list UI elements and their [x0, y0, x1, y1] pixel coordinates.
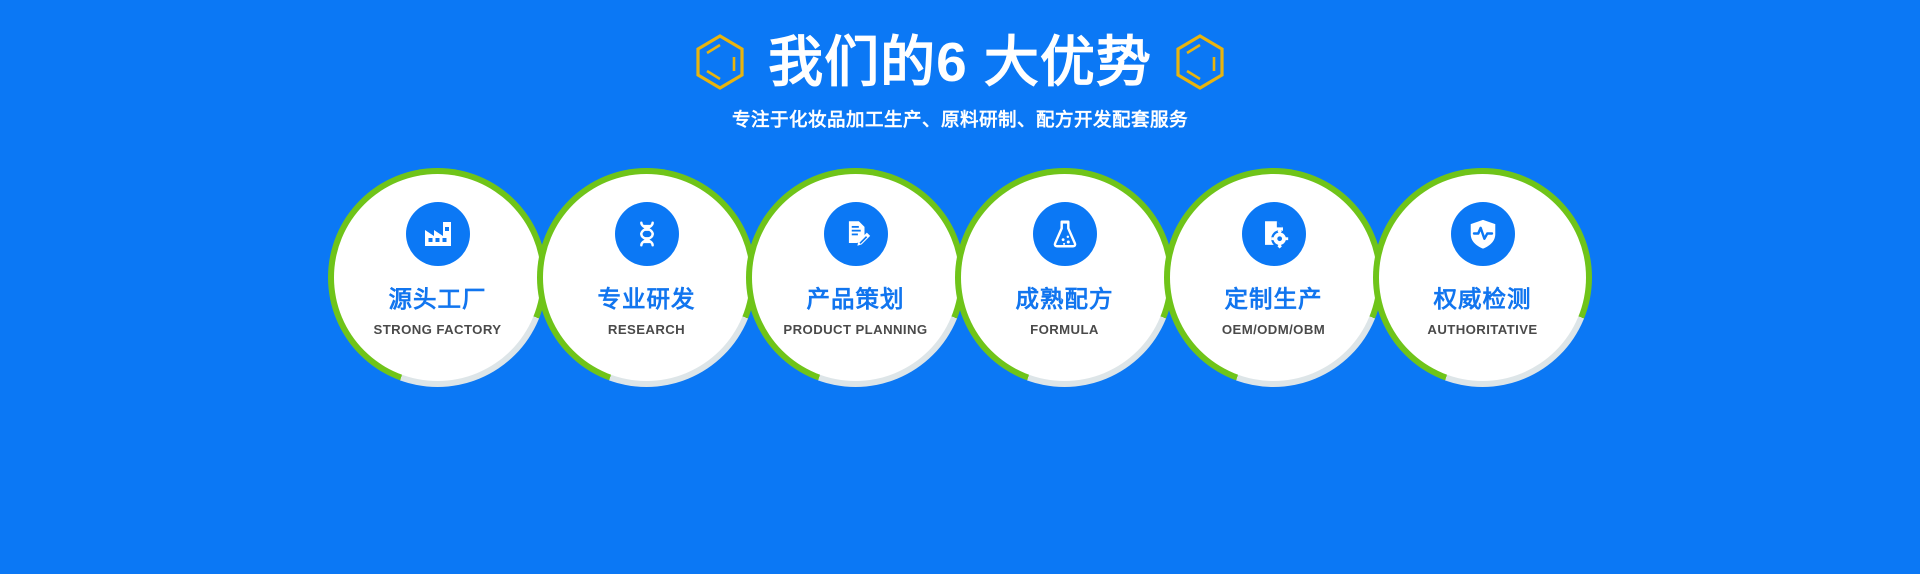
hexagon-outline-icon	[694, 33, 746, 91]
page-subtitle: 专注于化妆品加工生产、原料研制、配方开发配套服务	[0, 106, 1920, 132]
document-gear-icon	[1242, 202, 1306, 266]
advantage-label-cn: 定制生产	[1225, 280, 1323, 314]
advantage-label-cn: 专业研发	[598, 280, 696, 314]
advantage-label-cn: 成熟配方	[1016, 280, 1114, 314]
shield-pulse-icon	[1451, 202, 1515, 266]
document-pencil-icon	[824, 202, 888, 266]
circle-body: 定制生产 OEM/ODM/OBM	[1170, 174, 1377, 381]
circle-body: 成熟配方 FORMULA	[961, 174, 1168, 381]
page-title: 我们的6 大优势	[768, 31, 1152, 93]
advantage-label-en: RESEARCH	[608, 322, 685, 337]
advantage-item-factory[interactable]: 源头工厂 STRONG FACTORY	[328, 168, 547, 387]
banner-header: 我们的6 大优势 专注于化妆品加工生产、原料研制、配方开发配套服务	[0, 26, 1920, 132]
advantage-label-en: PRODUCT PLANNING	[783, 322, 927, 337]
advantage-label-en: OEM/ODM/OBM	[1222, 322, 1325, 337]
advantage-item-research[interactable]: 专业研发 RESEARCH	[537, 168, 756, 387]
advantage-label-cn: 源头工厂	[389, 280, 487, 314]
advantage-item-formula[interactable]: 成熟配方 FORMULA	[955, 168, 1174, 387]
advantage-circle-row: 源头工厂 STRONG FACTORY	[0, 168, 1920, 387]
circle-body: 源头工厂 STRONG FACTORY	[334, 174, 541, 381]
advantage-item-authoritative[interactable]: 权威检测 AUTHORITATIVE	[1373, 168, 1592, 387]
advantage-label-cn: 产品策划	[807, 280, 905, 314]
advantage-label-en: AUTHORITATIVE	[1427, 322, 1537, 337]
dna-helix-icon	[615, 202, 679, 266]
circle-body: 产品策划 PRODUCT PLANNING	[752, 174, 959, 381]
advantage-item-oem[interactable]: 定制生产 OEM/ODM/OBM	[1164, 168, 1383, 387]
advantage-label-en: FORMULA	[1030, 322, 1099, 337]
circle-body: 专业研发 RESEARCH	[543, 174, 750, 381]
factory-icon	[406, 202, 470, 266]
title-row: 我们的6 大优势	[0, 26, 1920, 98]
advantage-label-en: STRONG FACTORY	[374, 322, 502, 337]
hexagon-outline-icon	[1174, 33, 1226, 91]
circle-body: 权威检测 AUTHORITATIVE	[1379, 174, 1586, 381]
flask-icon	[1033, 202, 1097, 266]
advantage-item-planning[interactable]: 产品策划 PRODUCT PLANNING	[746, 168, 965, 387]
advantage-label-cn: 权威检测	[1434, 280, 1532, 314]
